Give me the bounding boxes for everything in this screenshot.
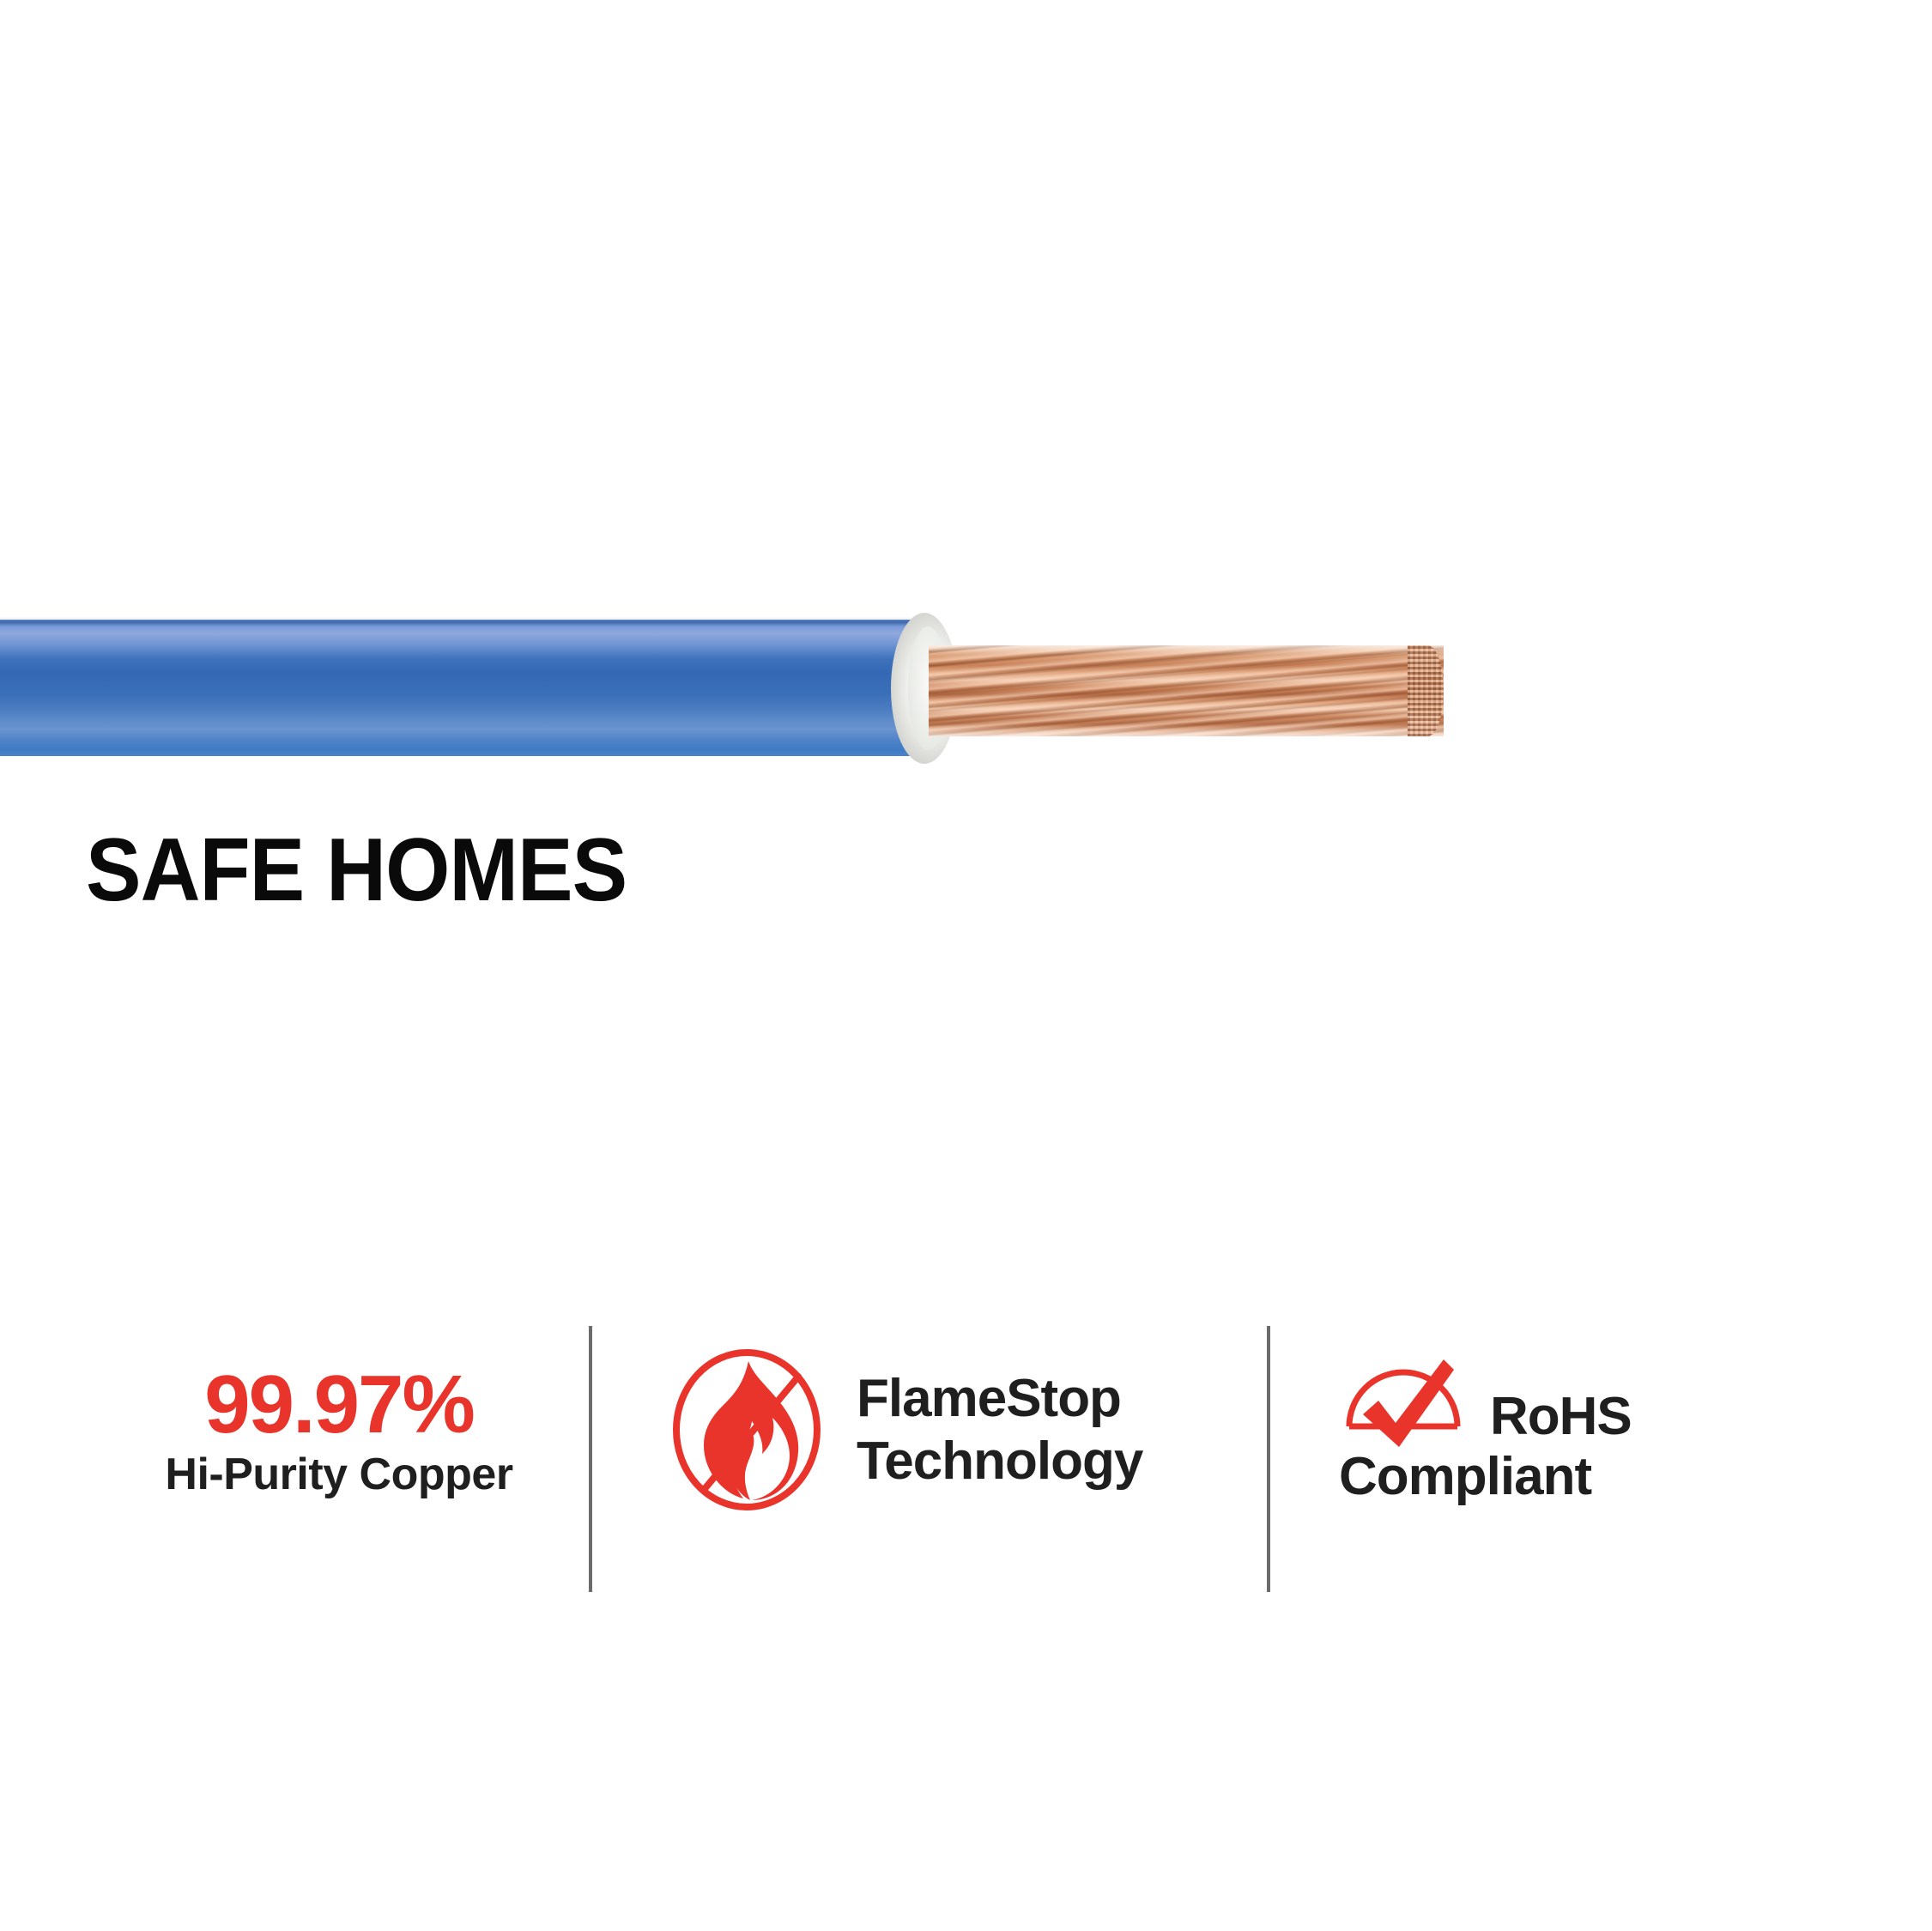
purity-percentage-value: 99.97% (146, 1363, 532, 1447)
flamestop-label-line2: Technology (857, 1432, 1142, 1491)
flamestop-label: FlameStop Technology (857, 1367, 1142, 1492)
badge-divider-1 (589, 1326, 592, 1592)
copper-strands-cut-tip (1408, 645, 1444, 736)
badge-rohs-compliant: RoHS Compliant (1339, 1337, 1820, 1508)
rohs-dome-check-icon (1339, 1337, 1485, 1449)
feature-badge-strip: 99.97% Hi-Purity Copper FlameStop T (0, 1322, 1932, 1596)
purity-label: Hi-Purity Copper (146, 1450, 532, 1499)
flamestop-label-line1: FlameStop (857, 1369, 1121, 1428)
badge-divider-2 (1267, 1326, 1270, 1592)
copper-strands-bundle (929, 645, 1444, 736)
rohs-label-line1: RoHS (1490, 1390, 1632, 1444)
cable-blue-jacket (0, 620, 923, 756)
badge-flamestop-technology: FlameStop Technology (669, 1346, 1142, 1514)
no-flame-icon (669, 1346, 824, 1514)
cable-product-image (0, 601, 1511, 781)
page-title: SAFE HOMES (86, 826, 627, 915)
product-feature-banner: SAFE HOMES 99.97% Hi-Purity Copper (0, 0, 1932, 1931)
rohs-label-line2: Compliant (1339, 1445, 1820, 1508)
badge-hi-purity-copper: 99.97% Hi-Purity Copper (146, 1363, 532, 1499)
